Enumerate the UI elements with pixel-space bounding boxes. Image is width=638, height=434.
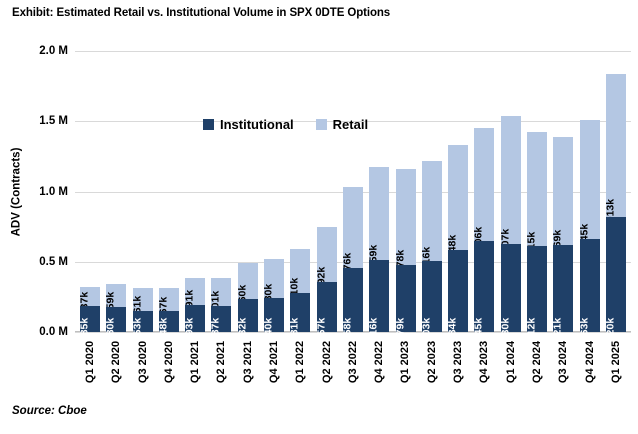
bar-column[interactable]: 280k240k [264, 51, 284, 332]
bar-segment-retail[interactable]: 716k [422, 161, 442, 262]
x-axis-tick-label: Q1 2021 [189, 341, 201, 383]
legend-swatch-institutional [203, 119, 214, 130]
bar-segment-retail[interactable]: 260k [238, 263, 258, 300]
bar-segment-retail[interactable]: 137k [80, 287, 100, 306]
y-axis-title-label: ADV (Contracts) [10, 147, 22, 236]
bar-segment-institutional[interactable]: 458k [343, 268, 363, 332]
x-axis-tick: Q3 2024 [553, 336, 573, 394]
bar-segment-retail[interactable]: 159k [106, 284, 126, 306]
bar-segment-institutional[interactable]: 281k [290, 293, 310, 332]
y-axis-tick-label: 2.0 M [39, 45, 68, 57]
bar-segment-retail[interactable]: 815k [527, 132, 547, 247]
page-title: Exhibit: Estimated Retail vs. Institutio… [12, 7, 390, 19]
bar-segment-institutional[interactable]: 630k [501, 244, 521, 333]
bar-segment-institutional[interactable]: 148k [159, 311, 179, 332]
bar-segment-institutional[interactable]: 153k [133, 311, 153, 332]
bar-segment-retail[interactable]: 161k [133, 288, 153, 311]
x-axis-tick-label: Q4 2023 [478, 341, 490, 383]
bar-segment-retail[interactable]: 678k [396, 169, 416, 264]
x-axis-tick-label: Q2 2021 [215, 341, 227, 383]
y-axis-tick-label: 1.0 M [39, 186, 68, 198]
source-note: Source: Cboe [12, 405, 87, 417]
bar-segment-institutional[interactable]: 516k [369, 260, 389, 332]
x-axis-tick-label: Q3 2021 [242, 341, 254, 383]
x-axis-tick: Q1 2025 [606, 336, 626, 394]
x-axis-tick: Q1 2024 [501, 336, 521, 394]
bar-segment-institutional[interactable]: 180k [106, 307, 126, 332]
bar-segment-institutional[interactable]: 232k [238, 299, 258, 332]
bar-column[interactable]: 260k232k [238, 51, 258, 332]
x-axis-tick-label: Q1 2023 [400, 341, 412, 383]
bar-segment-institutional[interactable]: 185k [80, 306, 100, 332]
x-axis-tick-label: Q3 2022 [347, 341, 359, 383]
bar-segment-retail[interactable]: 576k [343, 187, 363, 268]
x-axis-tick-label: Q2 2023 [426, 341, 438, 383]
x-axis-tick-label: Q2 2024 [531, 341, 543, 383]
x-axis-tick: Q4 2023 [474, 336, 494, 394]
x-axis-tick-label: Q4 2021 [268, 341, 280, 383]
bar-column[interactable]: 392k357k [317, 51, 337, 332]
x-axis-tick-label: Q3 2024 [557, 341, 569, 383]
x-axis-tick: Q2 2021 [211, 336, 231, 394]
x-axis-tick-label: Q1 2020 [84, 341, 96, 383]
bar-segment-retail[interactable]: 907k [501, 116, 521, 243]
bar-segment-retail[interactable]: 748k [448, 145, 468, 250]
bar-column[interactable]: 161k153k [133, 51, 153, 332]
bar-segment-retail[interactable]: 659k [369, 167, 389, 260]
x-axis-tick-label: Q3 2023 [452, 341, 464, 383]
bar-column[interactable]: 659k516k [369, 51, 389, 332]
x-axis-tick: Q1 2021 [185, 336, 205, 394]
bar-segment-institutional[interactable]: 503k [422, 261, 442, 332]
bar-segment-institutional[interactable]: 357k [317, 282, 337, 332]
bar-segment-institutional[interactable]: 240k [264, 298, 284, 332]
legend-label-institutional: Institutional [220, 117, 294, 132]
bar-segment-retail[interactable]: 806k [474, 128, 494, 241]
legend-swatch-retail [316, 119, 327, 130]
x-axis-tick-label: Q2 2022 [321, 341, 333, 383]
x-axis-tick: Q3 2020 [133, 336, 153, 394]
x-axis-tick: Q4 2022 [369, 336, 389, 394]
bar-column[interactable]: 137k185k [80, 51, 100, 332]
x-axis-tick: Q3 2023 [448, 336, 468, 394]
bar-segment-retail[interactable]: 310k [290, 249, 310, 293]
x-axis-tick: Q3 2021 [238, 336, 258, 394]
bar-segment-retail[interactable]: 280k [264, 259, 284, 298]
bar-column[interactable]: 815k612k [527, 51, 547, 332]
y-axis-tick-label: 1.5 M [39, 115, 68, 127]
bar-column[interactable]: 191k193k [185, 51, 205, 332]
x-axis-tick: Q1 2022 [290, 336, 310, 394]
x-axis-tick-label: Q2 2020 [110, 341, 122, 383]
x-axis-tick: Q4 2021 [264, 336, 284, 394]
bar-column[interactable]: 748k584k [448, 51, 468, 332]
bar-series-group: 137k185k159k180k161k153k167k148k191k193k… [75, 51, 631, 332]
bar-segment-retail[interactable]: 1013k [606, 74, 626, 216]
bar-column[interactable]: 907k630k [501, 51, 521, 332]
x-axis-tick-label: Q1 2024 [505, 341, 517, 383]
x-axis-tick: Q2 2024 [527, 336, 547, 394]
bar-column[interactable]: 159k180k [106, 51, 126, 332]
y-axis-tick-label: 0.0 M [39, 326, 68, 338]
x-axis-tick-label: Q4 2020 [163, 341, 175, 383]
x-axis-tick: Q4 2020 [159, 336, 179, 394]
bar-segment-retail[interactable]: 845k [580, 120, 600, 239]
x-axis-tick: Q2 2022 [317, 336, 337, 394]
bar-column[interactable]: 310k281k [290, 51, 310, 332]
legend-item-retail[interactable]: Retail [316, 117, 368, 132]
bar-segment-retail[interactable]: 769k [553, 137, 573, 245]
legend-label-retail: Retail [333, 117, 368, 132]
bar-segment-retail[interactable]: 167k [159, 288, 179, 311]
bar-column[interactable]: 716k503k [422, 51, 442, 332]
bar-segment-institutional[interactable]: 193k [185, 305, 205, 332]
bar-column[interactable]: 845k663k [580, 51, 600, 332]
y-axis-tick-label: 0.5 M [39, 256, 68, 268]
legend-item-institutional[interactable]: Institutional [203, 117, 294, 132]
bar-column[interactable]: 576k458k [343, 51, 363, 332]
bar-segment-institutional[interactable]: 820k [606, 217, 626, 332]
bar-column[interactable]: 806k645k [474, 51, 494, 332]
x-axis-tick: Q3 2022 [343, 336, 363, 394]
bar-segment-institutional[interactable]: 187k [211, 306, 231, 332]
bar-column[interactable]: 678k479k [396, 51, 416, 332]
bar-column[interactable]: 167k148k [159, 51, 179, 332]
x-axis-tick-label: Q3 2020 [137, 341, 149, 383]
bar-segment-institutional[interactable]: 663k [580, 239, 600, 332]
plot-area: 0.0 M0.5 M1.0 M1.5 M2.0 M Institutional … [75, 51, 631, 332]
x-axis-tick: Q1 2023 [396, 336, 416, 394]
bar-column[interactable]: 769k621k [553, 51, 573, 332]
bar-segment-institutional[interactable]: 612k [527, 246, 547, 332]
legend: Institutional Retail [203, 117, 368, 132]
bar-segment-retail[interactable]: 392k [317, 227, 337, 282]
bar-segment-retail[interactable]: 191k [185, 278, 205, 305]
x-axis-tick-label: Q1 2025 [610, 341, 622, 383]
bar-segment-retail[interactable]: 201k [211, 278, 231, 306]
x-axis-tick-label: Q4 2024 [584, 341, 596, 383]
bar-segment-institutional[interactable]: 621k [553, 245, 573, 332]
bar-column[interactable]: 201k187k [211, 51, 231, 332]
bar-column[interactable]: 1013k820k [606, 51, 626, 332]
x-axis-tick: Q4 2024 [580, 336, 600, 394]
bar-segment-institutional[interactable]: 584k [448, 250, 468, 332]
x-axis-tick: Q2 2020 [106, 336, 126, 394]
bar-segment-institutional[interactable]: 479k [396, 265, 416, 332]
y-axis-title: ADV (Contracts) [8, 51, 24, 332]
x-axis-labels: Q1 2020Q2 2020Q3 2020Q4 2020Q1 2021Q2 20… [75, 336, 631, 394]
x-axis-tick-label: Q4 2022 [373, 341, 385, 383]
x-axis-tick-label: Q1 2022 [294, 341, 306, 383]
x-axis-tick: Q2 2023 [422, 336, 442, 394]
bar-segment-institutional[interactable]: 645k [474, 241, 494, 332]
x-axis-tick: Q1 2020 [80, 336, 100, 394]
